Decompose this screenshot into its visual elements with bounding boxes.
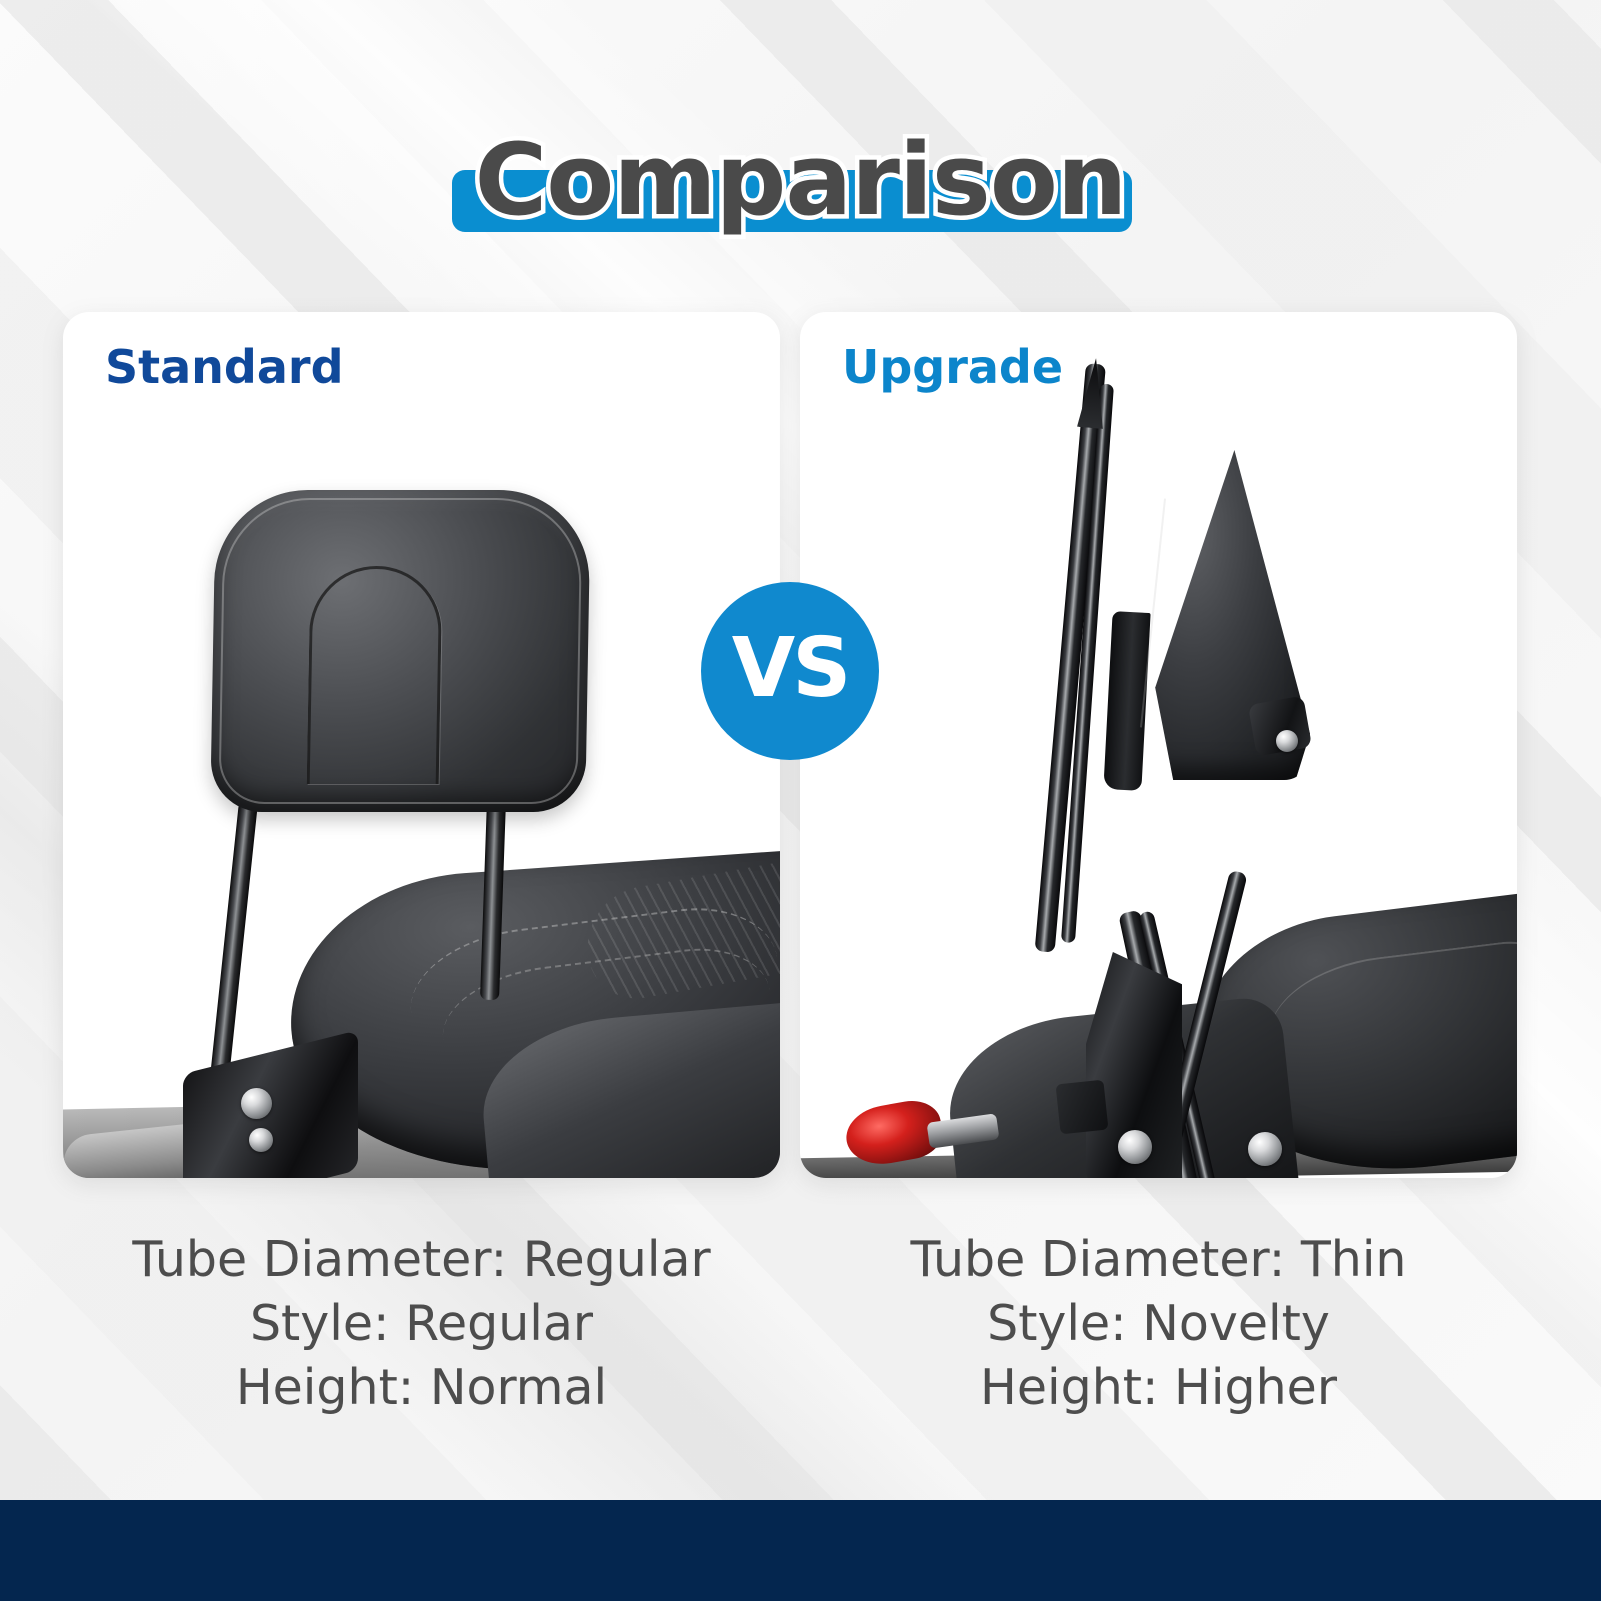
spec-line: Tube Diameter: Thin (800, 1228, 1517, 1292)
spec-list-upgrade: Tube Diameter: Thin Style: Novelty Heigh… (800, 1228, 1517, 1420)
chrome-bolt-icon (241, 1088, 272, 1119)
spec-list-standard: Tube Diameter: Regular Style: Regular He… (63, 1228, 780, 1420)
vs-badge: VS (701, 582, 879, 760)
chrome-bolt-icon (249, 1128, 273, 1152)
comparison-card-standard: Standard (63, 312, 780, 1178)
backrest-pad (210, 490, 591, 812)
spec-line: Height: Normal (63, 1356, 780, 1420)
spec-line: Height: Higher (800, 1356, 1517, 1420)
product-photo-upgrade (800, 312, 1517, 1178)
seat-stitch (1261, 935, 1517, 1113)
spec-line: Style: Novelty (800, 1292, 1517, 1356)
chrome-bolt-icon (1248, 1132, 1282, 1166)
pad-arch-stitch (307, 566, 443, 784)
comparison-card-upgrade: Upgrade (800, 312, 1517, 1178)
page-title: Comparison (0, 118, 1601, 258)
title-text: Comparison (0, 118, 1601, 243)
spec-line: Tube Diameter: Regular (63, 1228, 780, 1292)
card-label-standard: Standard (105, 340, 344, 394)
chrome-bolt-icon (1276, 730, 1298, 752)
mount-plate (1056, 1080, 1109, 1135)
product-photo-standard (63, 312, 780, 1178)
footer-bar (0, 1500, 1601, 1601)
spec-line: Style: Regular (63, 1292, 780, 1356)
card-label-upgrade: Upgrade (842, 340, 1063, 394)
vs-label: VS (732, 628, 849, 710)
chrome-bolt-icon (1118, 1130, 1152, 1164)
